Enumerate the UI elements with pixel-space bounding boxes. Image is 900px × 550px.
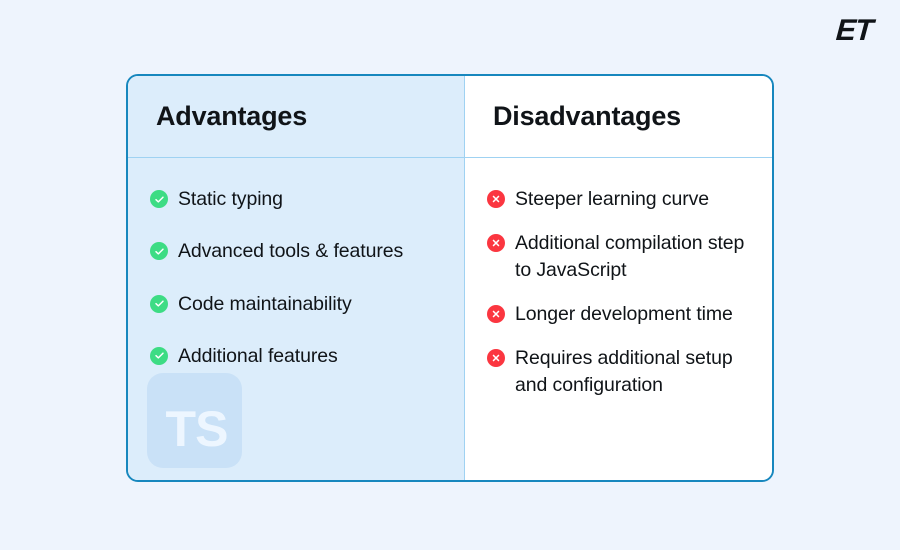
- list-item-label: Additional compilation step to JavaScrip…: [515, 230, 750, 283]
- column-header-disadvantages: Disadvantages: [465, 76, 772, 158]
- list-item-label: Steeper learning curve: [515, 186, 709, 212]
- list-item: Steeper learning curve: [487, 186, 750, 212]
- check-circle-icon: [150, 190, 168, 208]
- list-item-label: Advanced tools & features: [178, 238, 403, 264]
- list-item: Static typing: [150, 186, 442, 212]
- list-item-label: Static typing: [178, 186, 283, 212]
- check-circle-icon: [150, 347, 168, 365]
- check-circle-icon: [150, 295, 168, 313]
- comparison-card: Advantages Static typing: [126, 74, 774, 482]
- advantages-list: Static typing Advanced tools & features: [150, 186, 442, 369]
- brand-logo: ET: [835, 16, 873, 46]
- list-item: Additional compilation step to JavaScrip…: [487, 230, 750, 283]
- list-item: Longer development time: [487, 301, 750, 327]
- disadvantages-list: Steeper learning curve Additional compil…: [487, 186, 750, 398]
- list-item: Requires additional setup and configurat…: [487, 345, 750, 398]
- cross-circle-icon: [487, 234, 505, 252]
- column-body-disadvantages: Steeper learning curve Additional compil…: [465, 158, 772, 480]
- column-title-disadvantages: Disadvantages: [493, 101, 681, 132]
- list-item-label: Requires additional setup and configurat…: [515, 345, 750, 398]
- list-item: Additional features: [150, 343, 442, 369]
- column-advantages: Advantages Static typing: [128, 76, 464, 480]
- cross-circle-icon: [487, 305, 505, 323]
- list-item-label: Additional features: [178, 343, 338, 369]
- cross-circle-icon: [487, 190, 505, 208]
- column-title-advantages: Advantages: [156, 101, 307, 132]
- column-disadvantages: Disadvantages Steeper learning curve: [464, 76, 772, 480]
- list-item: Advanced tools & features: [150, 238, 442, 264]
- list-item-label: Longer development time: [515, 301, 733, 327]
- list-item: Code maintainability: [150, 291, 442, 317]
- column-header-advantages: Advantages: [128, 76, 464, 158]
- check-circle-icon: [150, 242, 168, 260]
- cross-circle-icon: [487, 349, 505, 367]
- column-body-advantages: Static typing Advanced tools & features: [128, 158, 464, 480]
- list-item-label: Code maintainability: [178, 291, 352, 317]
